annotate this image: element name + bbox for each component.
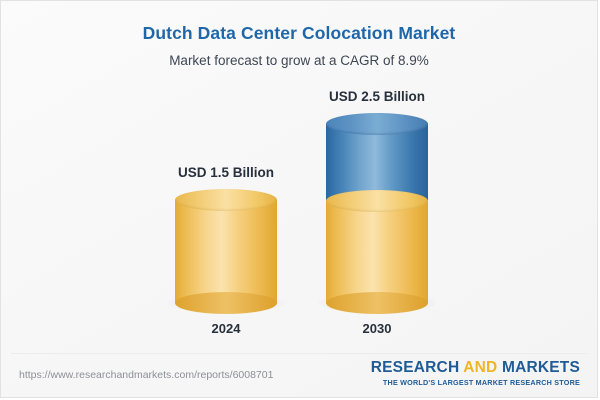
bar-body-2030 [326, 124, 428, 303]
bar-top-cap-2030 [326, 113, 428, 135]
bar-body-2024 [175, 200, 277, 303]
bar-junction-cap-2030 [326, 190, 428, 212]
bar-bottom-cap-2030 [326, 292, 428, 314]
bar-bottom-cap-2024 [175, 292, 277, 314]
bar-cylinder-2024[interactable] [175, 200, 277, 303]
bar-data-label-2024: USD 1.5 Billion [151, 165, 301, 180]
chart-card: Dutch Data Center Colocation Market Mark… [0, 0, 598, 398]
bar-segment-base-2030 [326, 201, 428, 303]
bar-data-label-2030: USD 2.5 Billion [302, 89, 452, 104]
bar-top-cap-2024 [175, 189, 277, 211]
report-url-link[interactable]: https://www.researchandmarkets.com/repor… [19, 369, 273, 381]
logo-and-text: AND [463, 359, 497, 376]
logo-tagline: THE WORLD'S LARGEST MARKET RESEARCH STOR… [371, 378, 580, 387]
footer-divider [11, 353, 587, 354]
bar-cylinder-2030[interactable] [326, 124, 428, 303]
brand-logo[interactable]: RESEARCH AND MARKETS THE WORLD'S LARGEST… [371, 360, 580, 387]
bar-side-yellow-2024 [175, 200, 277, 303]
bar-category-label-2024: 2024 [151, 321, 301, 336]
bar-category-label-2030: 2030 [302, 321, 452, 336]
bar-side-yellow-2030 [326, 201, 428, 303]
logo-wordmark: RESEARCH AND MARKETS [371, 360, 580, 376]
logo-research-text: RESEARCH [371, 359, 464, 376]
bar-segment-base-2024 [175, 200, 277, 303]
chart-plot-area: USD 1.5 Billion 2024 USD 2.5 Billion 203… [1, 1, 598, 398]
logo-markets-text: MARKETS [497, 359, 580, 376]
